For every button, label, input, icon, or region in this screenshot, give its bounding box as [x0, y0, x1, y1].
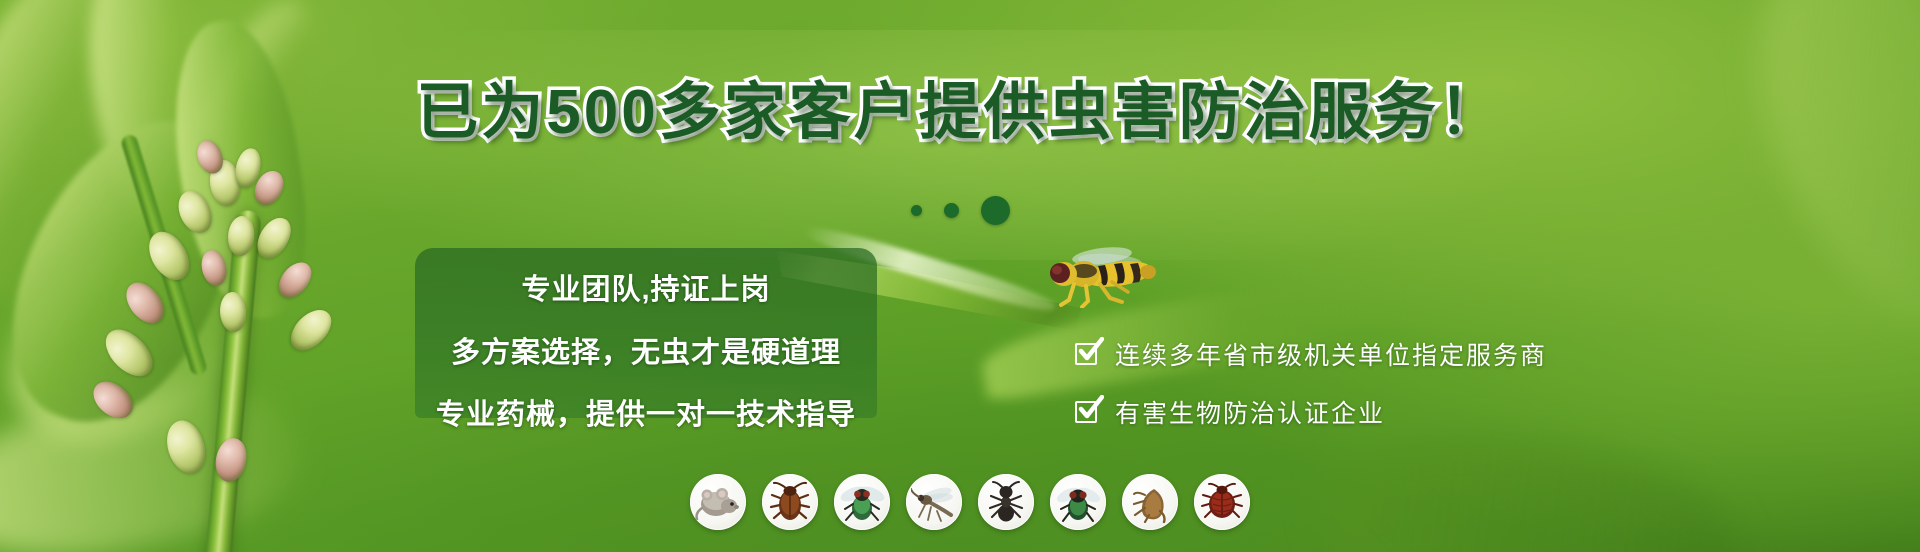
dot-large-icon — [981, 196, 1010, 225]
slogan-panel: 专业团队,持证上岗 多方案选择，无虫才是硬道理 专业药械，提供一对一技术指导 — [415, 248, 877, 418]
credential-bullet-item: 有害生物防治认证企业 — [1075, 394, 1547, 430]
dot-medium-icon — [944, 203, 959, 218]
housefly-icon[interactable] — [1050, 474, 1106, 530]
banner-headline: 已为500多家客户提供虫害防治服务！ — [0, 82, 1920, 144]
credential-bullet-text: 有害生物防治认证企业 — [1115, 394, 1385, 430]
pest-icon-row — [690, 474, 1250, 530]
bedbug-icon[interactable] — [1194, 474, 1250, 530]
credential-bullet-text: 连续多年省市级机关单位指定服务商 — [1115, 336, 1547, 372]
slogan-line-2: 多方案选择，无虫才是硬道理 — [415, 329, 877, 371]
flea-icon[interactable] — [1122, 474, 1178, 530]
slogan-line-1: 专业团队,持证上岗 — [415, 266, 877, 308]
checkbox-checked-icon — [1075, 399, 1101, 425]
checkbox-checked-icon — [1075, 341, 1101, 367]
credential-bullet-list: 连续多年省市级机关单位指定服务商 有害生物防治认证企业 — [1075, 336, 1547, 452]
banner-headline-text: 已为500多家客户提供虫害防治服务！ — [416, 78, 1503, 147]
cockroach-icon[interactable] — [762, 474, 818, 530]
pest-control-hero-banner: 已为500多家客户提供虫害防治服务！ 专业团队,持证上岗 多方案选择，无虫才是硬… — [0, 0, 1920, 552]
ant-icon[interactable] — [978, 474, 1034, 530]
headline-decorative-dots — [0, 196, 1920, 225]
dot-small-icon — [911, 205, 922, 216]
mosquito-icon[interactable] — [906, 474, 962, 530]
fly-icon[interactable] — [834, 474, 890, 530]
mouse-icon[interactable] — [690, 474, 746, 530]
hoverfly-image — [1040, 244, 1170, 308]
slogan-line-3: 专业药械，提供一对一技术指导 — [415, 391, 877, 433]
credential-bullet-item: 连续多年省市级机关单位指定服务商 — [1075, 336, 1547, 372]
